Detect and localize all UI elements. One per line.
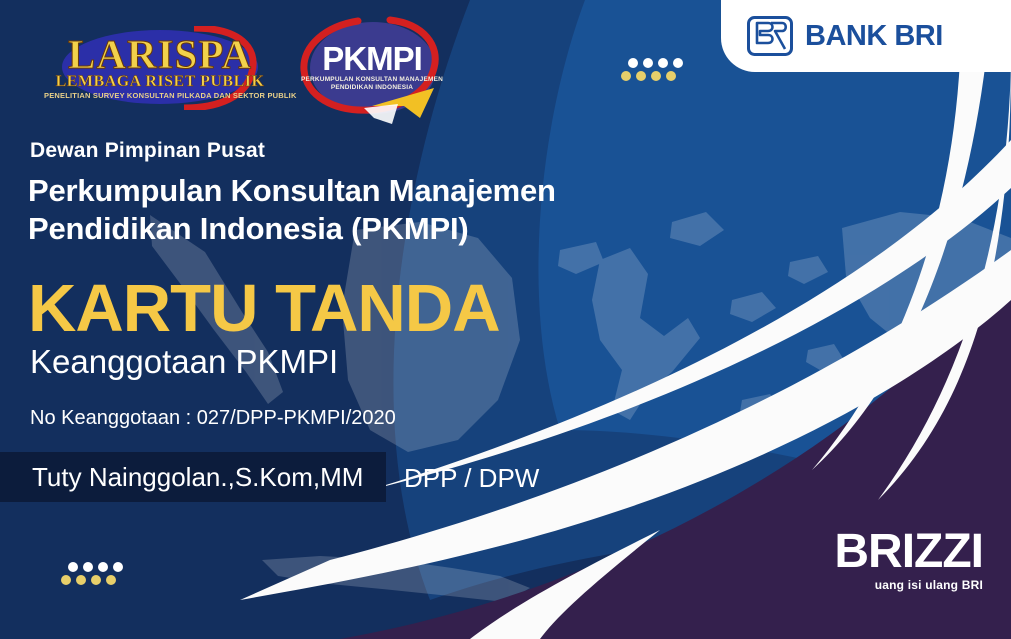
bri-logomark-icon bbox=[747, 16, 793, 56]
larispa-subtagline: PENELITIAN SURVEY KONSULTAN PILKADA DAN … bbox=[44, 92, 276, 100]
organization-name-line1: Perkumpulan Konsultan Manajemen bbox=[28, 172, 556, 210]
bank-bri-logo: BANK BRI bbox=[721, 0, 1011, 72]
larispa-logo: LARISPA LEMBAGA RISET PUBLIK PENELITIAN … bbox=[44, 26, 276, 110]
dot-row-white bbox=[68, 562, 126, 572]
dot-decoration-bottom bbox=[68, 562, 126, 585]
pkmpi-name: PKMPI bbox=[294, 42, 450, 75]
brizzi-name: BRIZZI bbox=[834, 528, 983, 576]
dot-row-gold bbox=[621, 71, 686, 81]
larispa-name: LARISPA bbox=[44, 34, 276, 75]
member-name: Tuty Nainggolan.,S.Kom,MM bbox=[32, 462, 363, 493]
brizzi-tagline: uang isi ulang BRI bbox=[834, 579, 983, 591]
pkmpi-tagline: PERKUMPULAN KONSULTAN MANAJEMEN PENDIDIK… bbox=[294, 76, 450, 92]
brizzi-logo: BRIZZI uang isi ulang BRI bbox=[834, 528, 983, 591]
bank-bri-label: BANK BRI bbox=[805, 22, 943, 51]
member-scope: DPP / DPW bbox=[404, 463, 539, 494]
member-number: No Keanggotaan : 027/DPP-PKMPI/2020 bbox=[30, 408, 396, 428]
larispa-tagline: LEMBAGA RISET PUBLIK bbox=[44, 74, 276, 90]
dot-row-gold bbox=[61, 575, 126, 585]
card-subtitle: Keanggotaan PKMPI bbox=[30, 345, 338, 378]
card-title: KARTU TANDA bbox=[28, 275, 500, 342]
membership-card: BANK BRI LARISPA LEMBAGA RISET PUBLIK PE… bbox=[0, 0, 1011, 639]
organization-subtitle: Dewan Pimpinan Pusat bbox=[30, 139, 265, 163]
dot-decoration-top bbox=[628, 58, 686, 81]
organization-name-line2: Pendidikan Indonesia (PKMPI) bbox=[28, 210, 556, 248]
member-name-bar: Tuty Nainggolan.,S.Kom,MM bbox=[0, 452, 386, 502]
dot-row-white bbox=[628, 58, 686, 68]
pkmpi-logo: PKMPI PERKUMPULAN KONSULTAN MANAJEMEN PE… bbox=[294, 12, 450, 130]
organization-name: Perkumpulan Konsultan Manajemen Pendidik… bbox=[28, 172, 556, 248]
